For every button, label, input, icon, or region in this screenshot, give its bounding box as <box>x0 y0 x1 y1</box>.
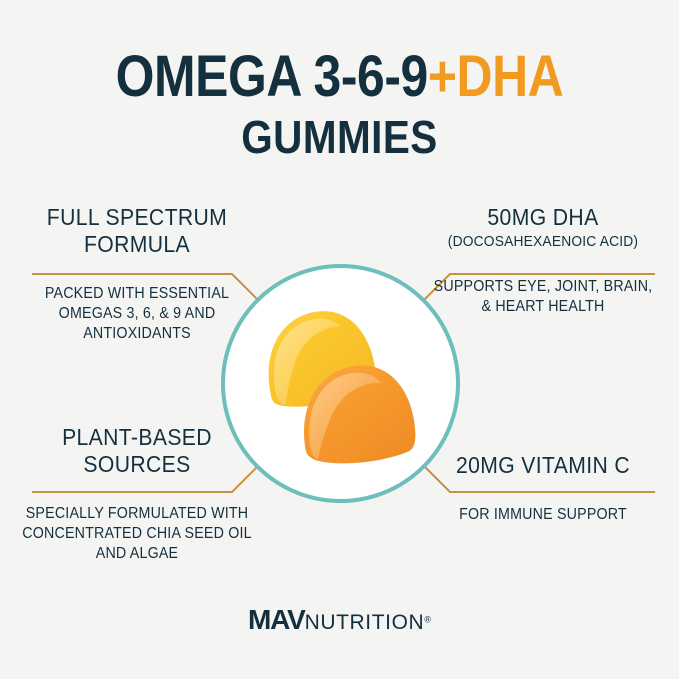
feature-heading: PLANT-BASED SOURCES <box>22 424 252 478</box>
title-subtitle: GUMMIES <box>41 112 639 162</box>
logo-brand-mark: MAV <box>248 604 305 635</box>
feature-heading: 50MG DHA <box>428 204 658 231</box>
feature-full-spectrum: FULL SPECTRUM FORMULA PACKED WITH ESSENT… <box>12 204 262 344</box>
feature-body: SUPPORTS EYE, JOINT, BRAIN, & HEART HEAL… <box>428 277 658 317</box>
feature-heading: FULL SPECTRUM FORMULA <box>22 204 252 258</box>
feature-body: FOR IMMUNE SUPPORT <box>428 505 658 525</box>
title-main-accent: +DHA <box>428 44 563 109</box>
feature-subheading: (DOCOSAHEXAENOIC ACID) <box>428 233 658 251</box>
feature-vitamin-c: 20MG VITAMIN C FOR IMMUNE SUPPORT <box>418 452 668 525</box>
registered-trademark-icon: ® <box>424 615 431 625</box>
page-title: OMEGA 3-6-9+DHA GUMMIES <box>0 48 679 162</box>
feature-body: PACKED WITH ESSENTIAL OMEGAS 3, 6, & 9 A… <box>22 284 252 344</box>
infographic-page: OMEGA 3-6-9+DHA GUMMIES <box>0 0 679 679</box>
logo-brand-word: NUTRITION <box>305 611 425 634</box>
title-main-line: OMEGA 3-6-9+DHA <box>48 48 632 106</box>
feature-body: SPECIALLY FORMULATED WITH CONCENTRATED C… <box>22 504 252 564</box>
feature-heading: 20MG VITAMIN C <box>428 452 658 479</box>
title-main-dark: OMEGA 3-6-9 <box>116 44 428 109</box>
feature-plant-based: PLANT-BASED SOURCES SPECIALLY FORMULATED… <box>12 424 262 564</box>
feature-dha: 50MG DHA (DOCOSAHEXAENOIC ACID) SUPPORTS… <box>418 204 668 317</box>
brand-logo: MAVNUTRITION® <box>0 604 679 636</box>
